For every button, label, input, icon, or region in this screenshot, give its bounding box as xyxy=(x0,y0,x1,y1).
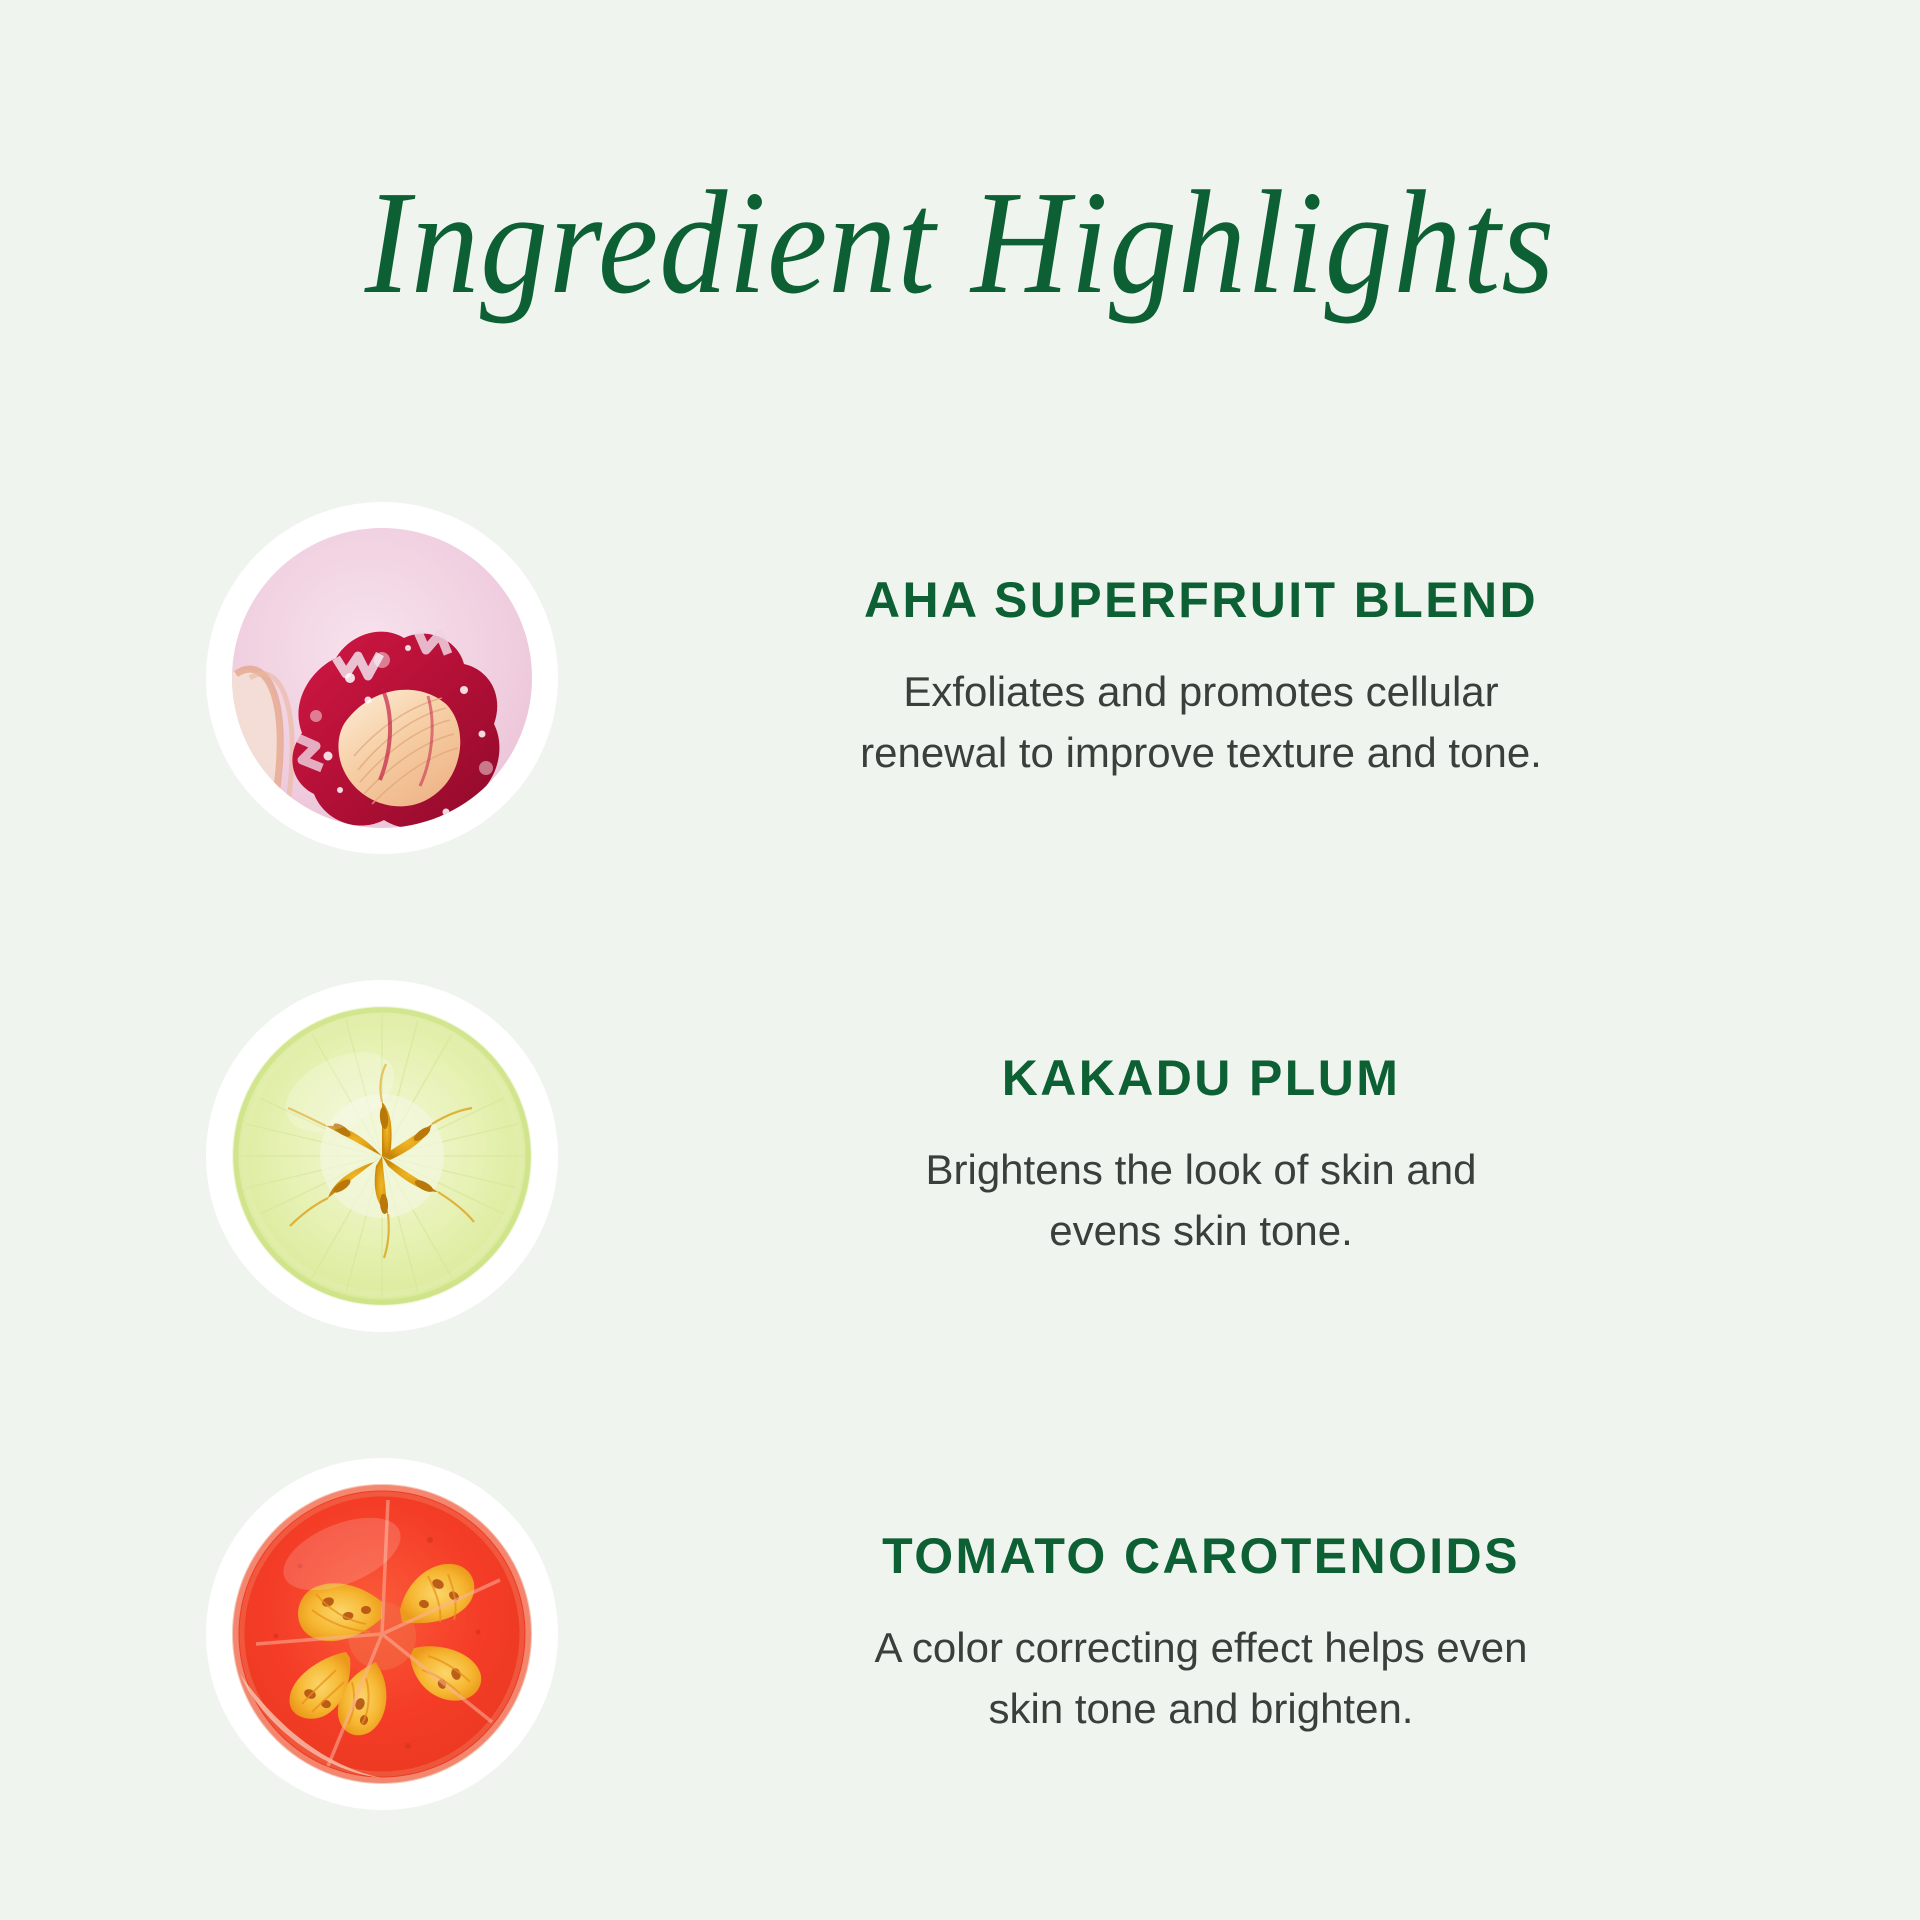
ingredient-description-line: renewal to improve texture and tone. xyxy=(791,723,1611,784)
ingredient-description: A color correcting effect helps even ski… xyxy=(791,1618,1611,1740)
ingredient-copy-2: KAKADU PLUM Brightens the look of skin a… xyxy=(558,1051,1920,1262)
ingredient-description-line: evens skin tone. xyxy=(791,1201,1611,1262)
ingredient-thumbnail-2 xyxy=(206,980,558,1332)
tomato-carotenoids-artwork xyxy=(232,1484,532,1784)
ingredient-copy-1: AHA SUPERFRUIT BLEND Exfoliates and prom… xyxy=(558,573,1920,784)
tomato-carotenoids-slice-image xyxy=(232,1484,532,1784)
aha-superfruit-artwork xyxy=(232,528,532,828)
ingredient-row: AHA SUPERFRUIT BLEND Exfoliates and prom… xyxy=(0,468,1920,888)
ingredient-highlights-page: Ingredient Highlights xyxy=(0,0,1920,1920)
ingredient-description-line: Brightens the look of skin and xyxy=(791,1140,1611,1201)
ingredient-list: AHA SUPERFRUIT BLEND Exfoliates and prom… xyxy=(0,430,1920,1844)
ingredient-thumbnail-1 xyxy=(206,502,558,854)
ingredient-copy-3: TOMATO CAROTENOIDS A color correcting ef… xyxy=(558,1529,1920,1740)
page-title: Ingredient Highlights xyxy=(365,168,1555,319)
ingredient-name: AHA SUPERFRUIT BLEND xyxy=(622,573,1780,628)
ingredient-row: KAKADU PLUM Brightens the look of skin a… xyxy=(0,946,1920,1366)
ingredient-description: Exfoliates and promotes cellular renewal… xyxy=(791,662,1611,784)
ingredient-description-line: A color correcting effect helps even xyxy=(791,1618,1611,1679)
ingredient-name: TOMATO CAROTENOIDS xyxy=(622,1529,1780,1584)
ingredient-description-line: skin tone and brighten. xyxy=(791,1679,1611,1740)
ingredient-name: KAKADU PLUM xyxy=(622,1051,1780,1106)
ingredient-thumbnail-3 xyxy=(206,1458,558,1810)
kakadu-plum-artwork xyxy=(232,1006,532,1306)
page-title-container: Ingredient Highlights xyxy=(0,168,1920,319)
ingredient-row: TOMATO CAROTENOIDS A color correcting ef… xyxy=(0,1424,1920,1844)
ingredient-description-line: Exfoliates and promotes cellular xyxy=(791,662,1611,723)
kakadu-plum-apple-slice-image xyxy=(232,1006,532,1306)
aha-superfruit-slice-image xyxy=(232,528,532,828)
ingredient-description: Brightens the look of skin and evens ski… xyxy=(791,1140,1611,1262)
